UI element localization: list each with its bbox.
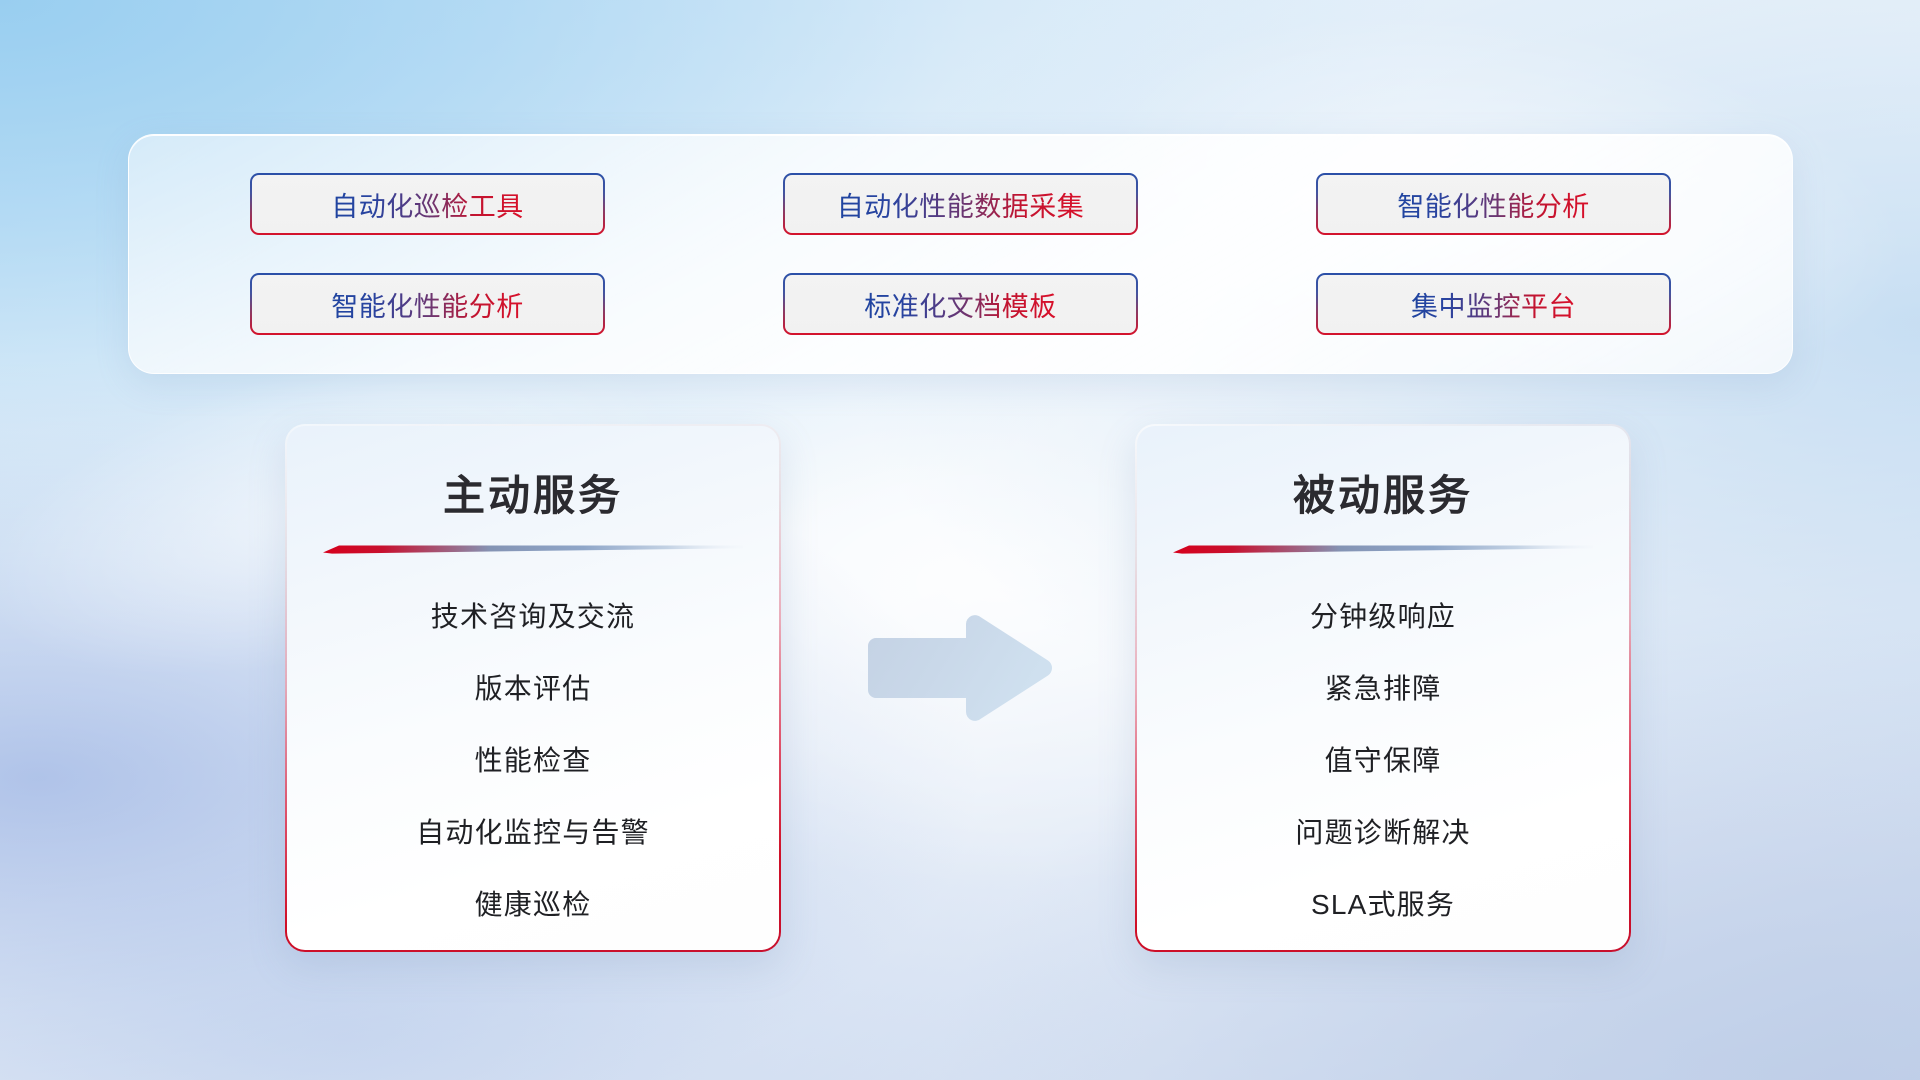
capability-tag[interactable]: 智能化性能分析 — [1316, 173, 1671, 235]
arrow-right-icon — [862, 612, 1054, 724]
capability-tag[interactable]: 集中监控平台 — [1316, 273, 1671, 335]
capability-tag-label: 自动化性能数据采集 — [837, 185, 1085, 224]
card-list-item: 自动化监控与告警 — [416, 797, 650, 869]
card-list-item: 健康巡检 — [475, 869, 592, 941]
card-divider — [1173, 543, 1593, 555]
card-item-list: 技术咨询及交流 版本评估 性能检查 自动化监控与告警 健康巡检 — [287, 581, 779, 941]
capability-tag-label: 自动化巡检工具 — [331, 185, 524, 224]
card-list-item: 性能检查 — [475, 725, 592, 797]
service-card-passive: 被动服务 分钟级响应 紧急排障 值守保障 — [1135, 424, 1631, 952]
card-list-item: 紧急排障 — [1325, 653, 1442, 725]
capability-tag-label: 智能化性能分析 — [1397, 185, 1590, 224]
slide-canvas: 自动化巡检工具 自动化性能数据采集 智能化性能分析 智能化性能分析 标准化文档模… — [0, 0, 1920, 1080]
card-list-item: 技术咨询及交流 — [431, 581, 635, 653]
capability-tag-label: 集中监控平台 — [1411, 285, 1576, 324]
capability-tag[interactable]: 自动化巡检工具 — [250, 173, 605, 235]
card-title: 被动服务 — [1293, 462, 1473, 523]
card-list-item: 分钟级响应 — [1310, 581, 1456, 653]
capability-panel: 自动化巡检工具 自动化性能数据采集 智能化性能分析 智能化性能分析 标准化文档模… — [128, 134, 1793, 374]
card-title: 主动服务 — [443, 462, 623, 523]
capability-tag-label: 智能化性能分析 — [331, 285, 524, 324]
capability-tag[interactable]: 标准化文档模板 — [783, 273, 1138, 335]
capability-tag-grid: 自动化巡检工具 自动化性能数据采集 智能化性能分析 智能化性能分析 标准化文档模… — [129, 173, 1792, 335]
card-list-item: 版本评估 — [475, 653, 592, 725]
capability-tag[interactable]: 自动化性能数据采集 — [783, 173, 1138, 235]
service-card-active: 主动服务 技术咨询及交流 版本评估 性能检查 — [285, 424, 781, 952]
capability-tag[interactable]: 智能化性能分析 — [250, 273, 605, 335]
card-list-item: 值守保障 — [1325, 725, 1442, 797]
card-item-list: 分钟级响应 紧急排障 值守保障 问题诊断解决 SLA式服务 — [1137, 581, 1629, 941]
card-list-item: 问题诊断解决 — [1295, 797, 1470, 869]
card-divider — [323, 543, 743, 555]
capability-tag-label: 标准化文档模板 — [864, 285, 1057, 324]
card-list-item: SLA式服务 — [1311, 869, 1455, 941]
